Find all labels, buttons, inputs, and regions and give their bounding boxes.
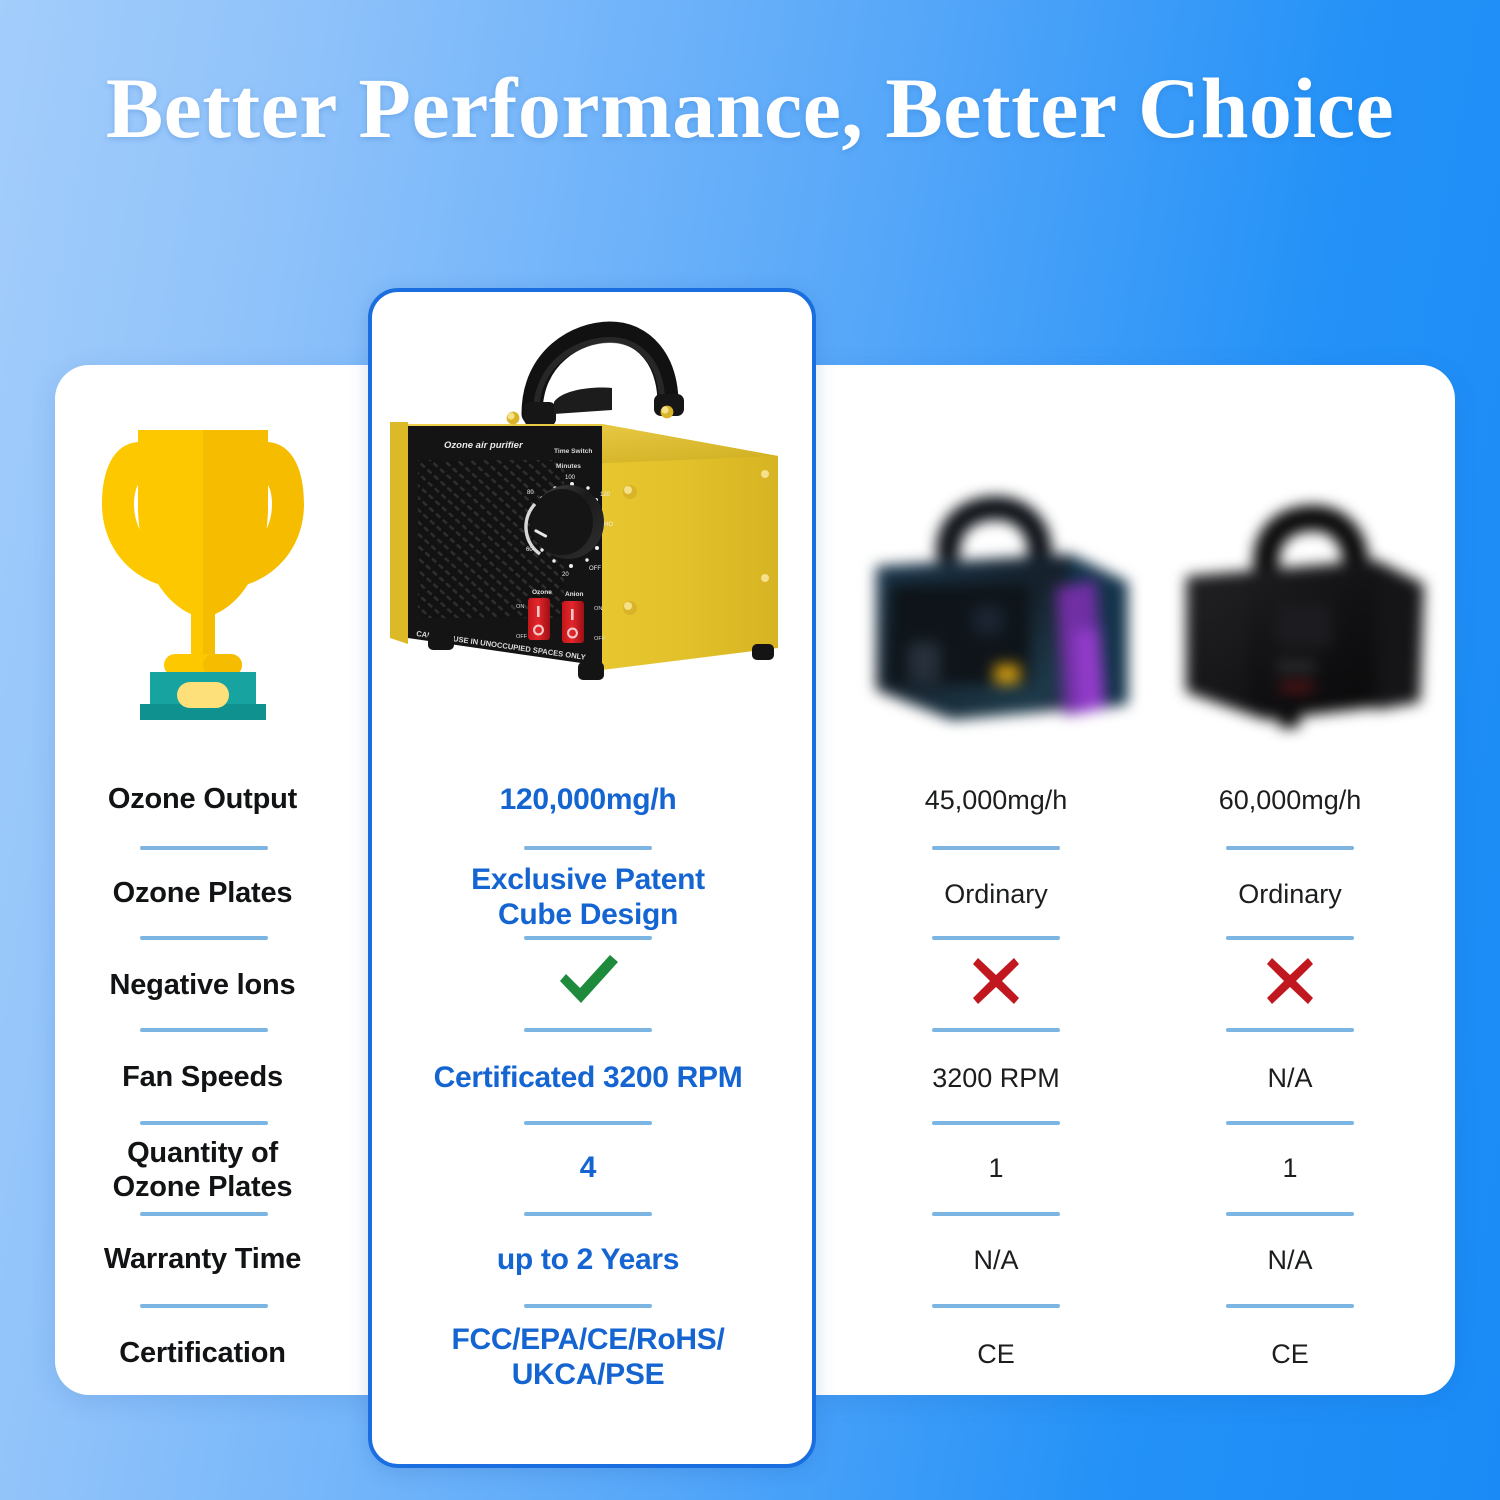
row-value-competitor-a: 1 — [858, 1152, 1134, 1184]
cross-icon — [969, 954, 1023, 1008]
row-value-competitor-a: CE — [858, 1338, 1134, 1370]
row-divider — [932, 936, 1060, 940]
row-label: Quantity ofOzone Plates — [75, 1136, 330, 1204]
row-value-competitor-a: N/A — [858, 1244, 1134, 1276]
row-label: Negative lons — [75, 968, 330, 1002]
row-value-competitor-b — [1152, 954, 1428, 1008]
row-value-main: FCC/EPA/CE/RoHS/UKCA/PSE — [388, 1322, 788, 1392]
row-value-competitor-b: Ordinary — [1152, 878, 1428, 910]
row-value-main: 120,000mg/h — [388, 782, 788, 817]
row-value-main: 4 — [388, 1150, 788, 1185]
row-divider — [140, 1304, 268, 1308]
row-value-competitor-a: Ordinary — [858, 878, 1134, 910]
row-divider — [1226, 1212, 1354, 1216]
row-divider — [140, 1028, 268, 1032]
row-value-competitor-b: 60,000mg/h — [1152, 784, 1428, 816]
row-divider — [932, 1212, 1060, 1216]
row-label: Certification — [75, 1336, 330, 1370]
row-divider — [140, 846, 268, 850]
row-value-main: up to 2 Years — [388, 1242, 788, 1277]
row-value-competitor-a: 3200 RPM — [858, 1062, 1134, 1094]
row-divider — [932, 846, 1060, 850]
row-divider — [524, 1121, 652, 1125]
row-divider — [140, 1212, 268, 1216]
row-divider — [524, 1304, 652, 1308]
row-divider — [1226, 936, 1354, 940]
row-label: Warranty Time — [75, 1242, 330, 1276]
row-value-competitor-b: 1 — [1152, 1152, 1428, 1184]
cross-icon — [1263, 954, 1317, 1008]
row-value-competitor-b: CE — [1152, 1338, 1428, 1370]
row-label: Ozone Plates — [75, 876, 330, 910]
row-value-main: Certificated 3200 RPM — [388, 1060, 788, 1095]
row-divider — [524, 846, 652, 850]
row-value-competitor-a — [858, 954, 1134, 1008]
row-divider — [932, 1121, 1060, 1125]
row-divider — [140, 936, 268, 940]
spec-table: Ozone Output 120,000mg/h 45,000mg/h 60,0… — [0, 0, 1500, 1500]
row-divider — [932, 1304, 1060, 1308]
row-label: Fan Speeds — [75, 1060, 330, 1094]
row-divider — [524, 936, 652, 940]
row-value-competitor-a: 45,000mg/h — [858, 784, 1134, 816]
row-value-competitor-b: N/A — [1152, 1244, 1428, 1276]
row-value-main — [388, 950, 788, 1010]
row-divider — [140, 1121, 268, 1125]
row-value-competitor-b: N/A — [1152, 1062, 1428, 1094]
row-divider — [524, 1212, 652, 1216]
row-value-main: Exclusive PatentCube Design — [388, 862, 788, 932]
row-divider — [524, 1028, 652, 1032]
row-divider — [1226, 846, 1354, 850]
row-divider — [1226, 1304, 1354, 1308]
row-divider — [1226, 1028, 1354, 1032]
row-label: Ozone Output — [75, 782, 330, 816]
check-icon — [552, 950, 624, 1010]
row-divider — [1226, 1121, 1354, 1125]
row-divider — [932, 1028, 1060, 1032]
